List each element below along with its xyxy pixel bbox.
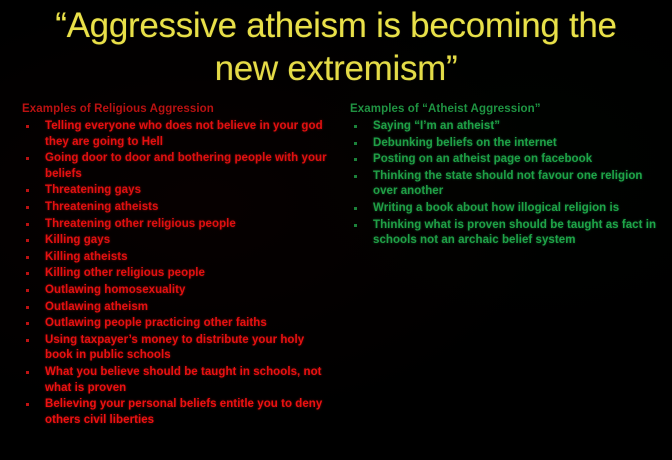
list-item-label: Writing a book about how illogical relig… <box>373 202 619 214</box>
list-item-label: Outlawing atheism <box>45 301 148 313</box>
slide-canvas: “Aggressive atheism is becoming the new … <box>0 0 672 460</box>
list-item: Threatening other religious people <box>22 217 332 233</box>
list-item: Threatening gays <box>22 183 332 199</box>
right-column-heading: Examples of “Atheist Aggression” <box>350 102 666 116</box>
list-item-label: Going door to door and bothering people … <box>45 152 327 180</box>
bullet-square-icon <box>26 189 29 192</box>
bullet-square-icon <box>26 289 29 292</box>
list-item: Thinking what is proven should be taught… <box>350 218 666 249</box>
list-item-label: What you believe should be taught in sch… <box>45 366 322 394</box>
list-item: Killing atheists <box>22 250 332 266</box>
bullet-square-icon <box>26 157 29 160</box>
list-item: Threatening atheists <box>22 200 332 216</box>
list-item: Going door to door and bothering people … <box>22 151 332 182</box>
bullet-square-icon <box>354 158 357 161</box>
list-item: Killing other religious people <box>22 266 332 282</box>
bullet-square-icon <box>26 206 29 209</box>
list-item-label: Threatening other religious people <box>45 218 236 230</box>
bullet-square-icon <box>354 125 357 128</box>
left-column-heading: Examples of Religious Aggression <box>22 102 332 116</box>
bullet-square-icon <box>26 403 29 406</box>
slide-title: “Aggressive atheism is becoming the new … <box>0 4 672 90</box>
bullet-square-icon <box>26 306 29 309</box>
right-column-list: Saying “I’m an atheist” Debunking belief… <box>350 119 666 249</box>
list-item-label: Threatening atheists <box>45 201 158 213</box>
bullet-square-icon <box>26 272 29 275</box>
right-column: Examples of “Atheist Aggression” Saying … <box>350 102 666 250</box>
list-item: Telling everyone who does not believe in… <box>22 119 332 150</box>
list-item: What you believe should be taught in sch… <box>22 365 332 396</box>
bullet-square-icon <box>26 223 29 226</box>
bullet-square-icon <box>26 322 29 325</box>
left-column-list: Telling everyone who does not believe in… <box>22 119 332 428</box>
bullet-square-icon <box>354 207 357 210</box>
list-item: Believing your personal beliefs entitle … <box>22 397 332 428</box>
list-item-label: Posting on an atheist page on facebook <box>373 153 592 165</box>
list-item: Thinking the state should not favour one… <box>350 169 666 200</box>
list-item: Outlawing homosexuality <box>22 283 332 299</box>
list-item-label: Threatening gays <box>45 184 141 196</box>
bullet-square-icon <box>26 339 29 342</box>
list-item-label: Killing atheists <box>45 251 128 263</box>
list-item: Outlawing atheism <box>22 300 332 316</box>
list-item-label: Killing gays <box>45 234 110 246</box>
bullet-square-icon <box>26 256 29 259</box>
list-item-label: Outlawing homosexuality <box>45 284 185 296</box>
bullet-square-icon <box>26 371 29 374</box>
bullet-square-icon <box>26 125 29 128</box>
bullet-square-icon <box>354 224 357 227</box>
list-item-label: Outlawing people practicing other faiths <box>45 317 267 329</box>
list-item-label: Telling everyone who does not believe in… <box>45 120 323 148</box>
list-item-label: Saying “I’m an atheist” <box>373 120 500 132</box>
left-column: Examples of Religious Aggression Telling… <box>22 102 332 429</box>
list-item: Killing gays <box>22 233 332 249</box>
list-item-label: Using taxpayer’s money to distribute you… <box>45 334 304 362</box>
list-item-label: Believing your personal beliefs entitle … <box>45 398 322 426</box>
list-item-label: Killing other religious people <box>45 267 205 279</box>
bullet-square-icon <box>26 239 29 242</box>
list-item: Debunking beliefs on the internet <box>350 136 666 152</box>
list-item-label: Thinking the state should not favour one… <box>373 170 643 198</box>
list-item: Using taxpayer’s money to distribute you… <box>22 333 332 364</box>
list-item: Outlawing people practicing other faiths <box>22 316 332 332</box>
list-item: Writing a book about how illogical relig… <box>350 201 666 217</box>
list-item-label: Thinking what is proven should be taught… <box>373 219 656 247</box>
list-item: Posting on an atheist page on facebook <box>350 152 666 168</box>
list-item-label: Debunking beliefs on the internet <box>373 137 557 149</box>
list-item: Saying “I’m an atheist” <box>350 119 666 135</box>
bullet-square-icon <box>354 142 357 145</box>
bullet-square-icon <box>354 175 357 178</box>
